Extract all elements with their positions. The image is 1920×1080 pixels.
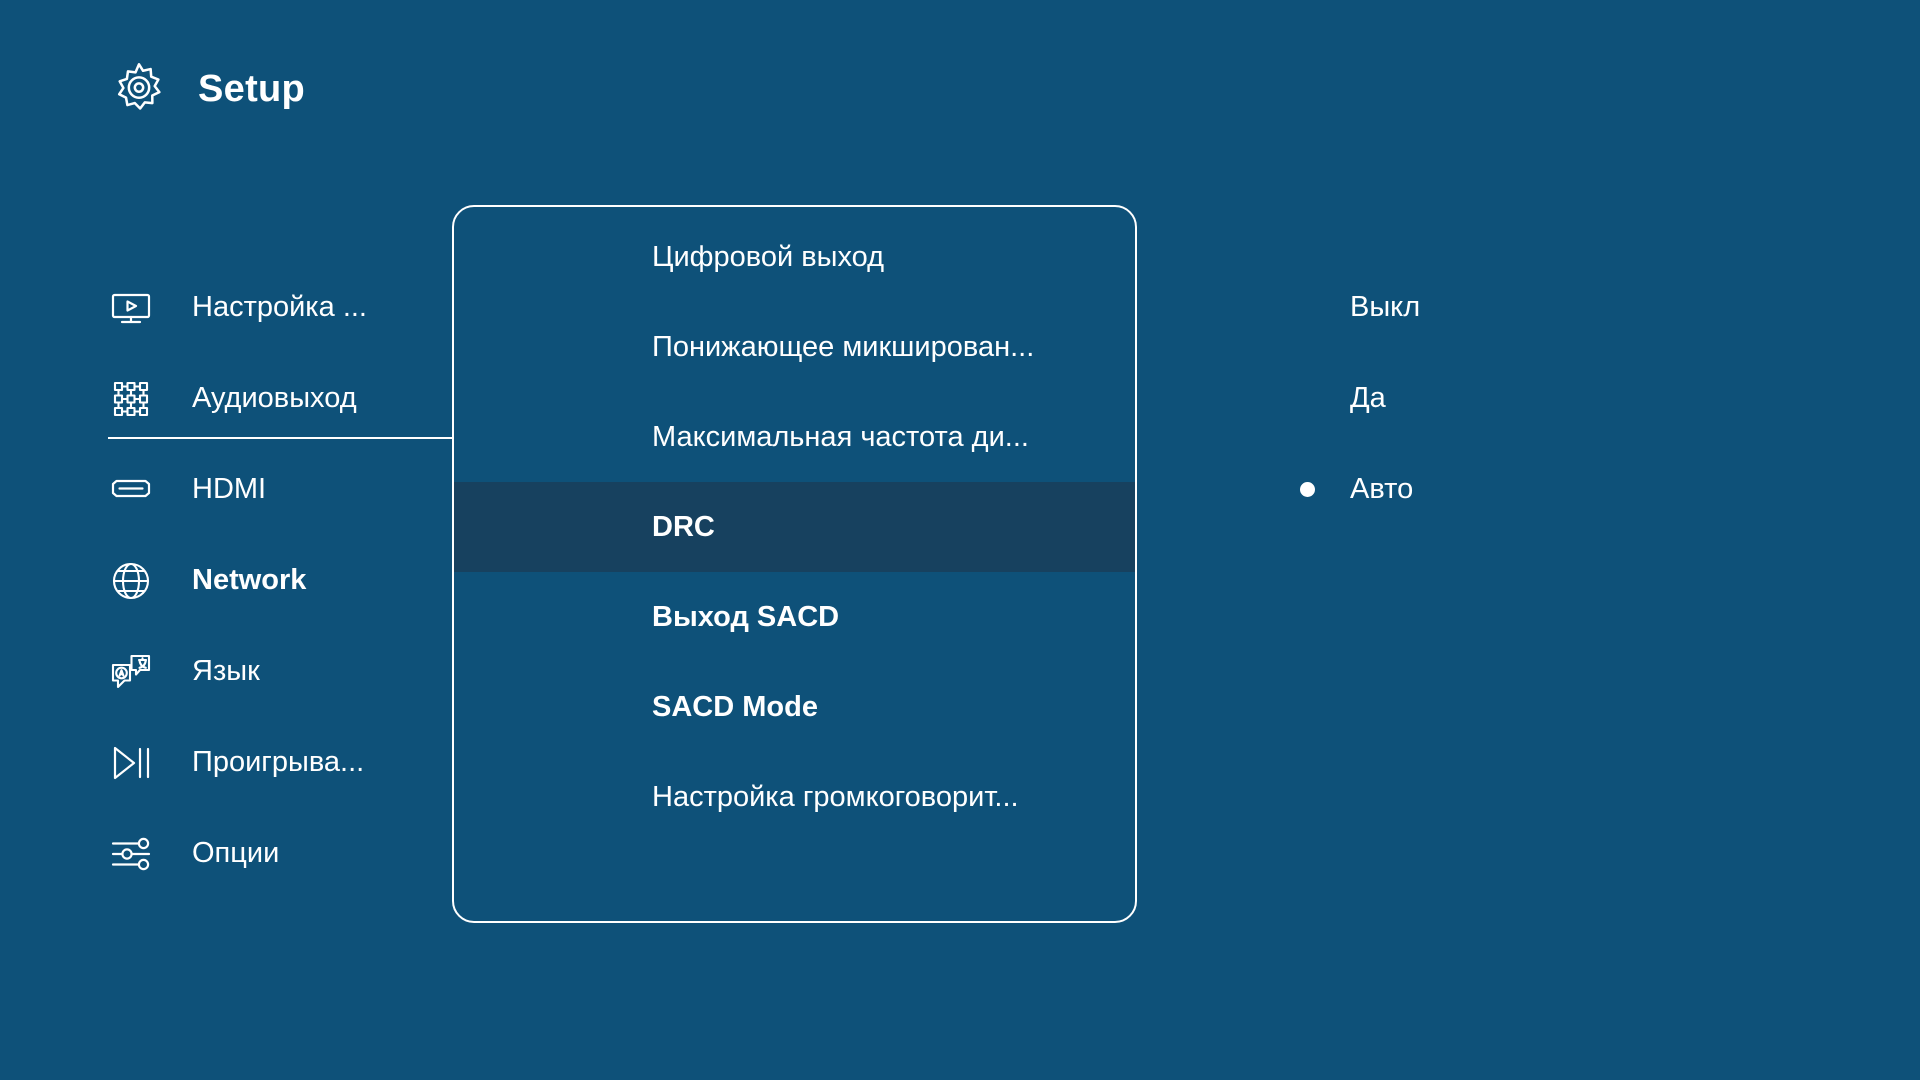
sidebar-item-label: Язык: [192, 657, 260, 686]
page-title: Setup: [198, 70, 305, 108]
option-row-auto[interactable]: Авто: [1330, 444, 1750, 535]
radio-bullet-icon: [1300, 482, 1315, 497]
sidebar-item-label: Настройка ...: [192, 293, 367, 322]
play-pause-icon: [108, 740, 154, 786]
option-label: Да: [1350, 382, 1386, 415]
option-label: Авто: [1350, 473, 1413, 506]
globe-icon: [108, 558, 154, 604]
menu-item-sacd-output[interactable]: Выход SACD: [454, 572, 1135, 662]
value-options-list: Выкл Да Авто: [1330, 262, 1750, 535]
menu-list: Цифровой выход Понижающее микширован... …: [454, 207, 1135, 842]
hdmi-connector-icon: [108, 467, 154, 513]
menu-item-label: Цифровой выход: [652, 241, 884, 274]
menu-item-label: Настройка громкоговорит...: [652, 781, 1019, 814]
menu-item-label: DRC: [652, 511, 715, 544]
gear-icon: [108, 58, 170, 120]
sidebar-item-label: Опции: [192, 839, 279, 868]
display-playback-icon: [108, 285, 154, 331]
menu-item-label: Понижающее микширован...: [652, 331, 1034, 364]
menu-item-sacd-mode[interactable]: SACD Mode: [454, 662, 1135, 752]
sidebar-item-label: Аудиовыход: [192, 384, 357, 413]
option-label: Выкл: [1350, 291, 1420, 324]
menu-item-drc[interactable]: DRC: [454, 482, 1135, 572]
page-header: Setup: [108, 58, 305, 120]
menu-item-label: SACD Mode: [652, 691, 818, 724]
menu-item-label: Максимальная частота ди...: [652, 421, 1029, 454]
sidebar-item-label: Проигрыва...: [192, 748, 364, 777]
option-row-off[interactable]: Выкл: [1330, 262, 1750, 353]
settings-panel: Цифровой выход Понижающее микширован... …: [452, 205, 1137, 923]
menu-item-digital-output[interactable]: Цифровой выход: [454, 212, 1135, 302]
menu-item-speaker-setup[interactable]: Настройка громкоговорит...: [454, 752, 1135, 842]
audio-matrix-icon: [108, 376, 154, 422]
sliders-icon: [108, 831, 154, 877]
menu-item-downmix[interactable]: Понижающее микширован...: [454, 302, 1135, 392]
option-row-yes[interactable]: Да: [1330, 353, 1750, 444]
menu-item-max-sampling-rate[interactable]: Максимальная частота ди...: [454, 392, 1135, 482]
menu-item-label: Выход SACD: [652, 601, 839, 634]
translate-icon: [108, 649, 154, 695]
sidebar-item-label: Network: [192, 566, 306, 595]
sidebar-item-label: HDMI: [192, 475, 266, 504]
